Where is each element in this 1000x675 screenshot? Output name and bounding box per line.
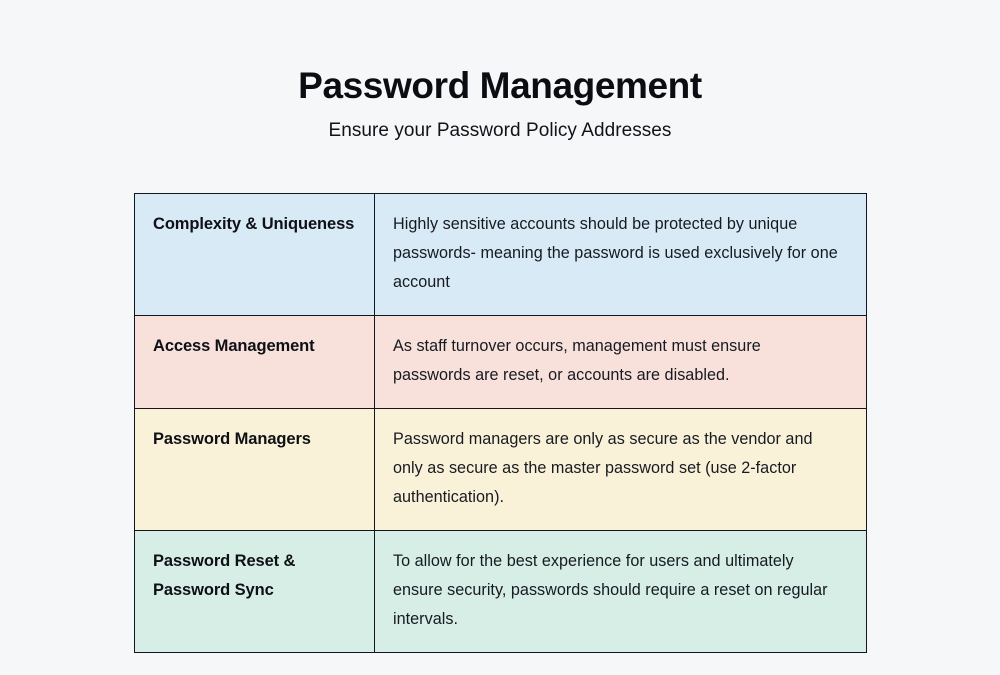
heading-block: Password Management Ensure your Password… [0,63,1000,143]
table-cell-term: Password Reset & Password Sync [135,531,375,653]
table-cell-description: As staff turnover occurs, management mus… [375,316,867,409]
table-cell-term: Password Managers [135,409,375,531]
table-cell-description: To allow for the best experience for use… [375,531,867,653]
table-row: Password Reset & Password Sync To allow … [135,531,867,653]
table-cell-description: Highly sensitive accounts should be prot… [375,194,867,316]
table-row: Password Managers Password managers are … [135,409,867,531]
table-cell-term: Complexity & Uniqueness [135,194,375,316]
password-policy-table: Complexity & Uniqueness Highly sensitive… [134,193,867,653]
slide-canvas: Password Management Ensure your Password… [0,0,1000,675]
table-row: Complexity & Uniqueness Highly sensitive… [135,194,867,316]
page-subtitle: Ensure your Password Policy Addresses [0,119,1000,143]
table-row: Access Management As staff turnover occu… [135,316,867,409]
table-cell-description: Password managers are only as secure as … [375,409,867,531]
page-title: Password Management [0,63,1000,109]
table-cell-term: Access Management [135,316,375,409]
